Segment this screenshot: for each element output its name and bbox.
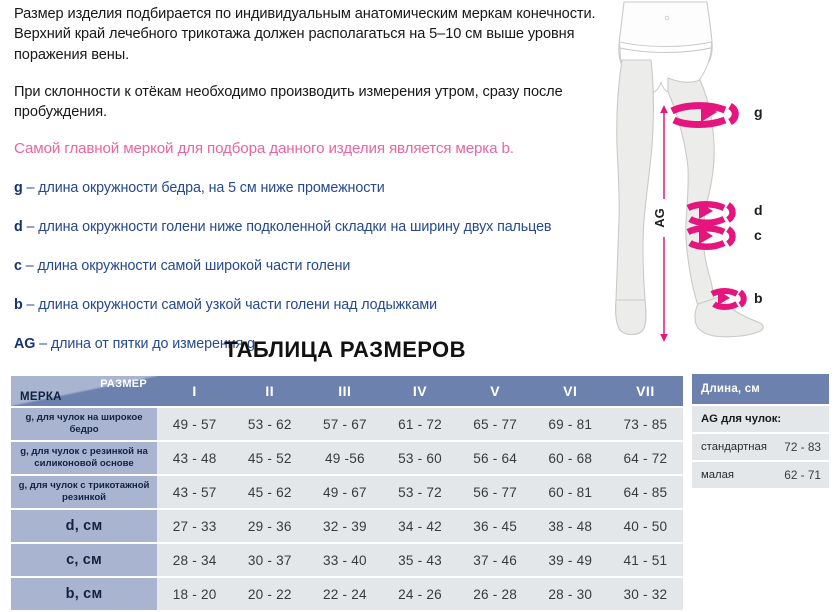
length-panel: Длина, см AG для чулок: стандартная 72 -…	[692, 374, 829, 574]
ag-label: AG	[652, 208, 667, 228]
length-row-value: 62 - 71	[784, 462, 821, 488]
column-header-1: I	[157, 376, 232, 406]
definition-dash-c: –	[26, 258, 34, 274]
cell-value: 53 - 72	[382, 476, 457, 508]
cell-value: 43 - 48	[157, 442, 232, 474]
table-row: g, для чулок с резинкой на силиконовой о…	[11, 442, 683, 474]
measurement-definitions: g – длина окружности бедра, на 5 см ниже…	[14, 179, 614, 353]
length-panel-header: Длина, см	[692, 374, 829, 404]
cell-value: 41 - 51	[608, 544, 683, 576]
cell-value: 49 -56	[307, 442, 382, 474]
cell-value: 45 - 52	[232, 442, 307, 474]
length-panel-row: стандартная 72 - 83	[692, 434, 829, 460]
size-table: РАЗМЕР МЕРКА I II III IV V VI VII g, для…	[11, 374, 683, 612]
cell-value: 43 - 57	[157, 476, 232, 508]
cell-value: 61 - 72	[382, 408, 457, 440]
row-label: d, см	[11, 510, 157, 542]
cell-value: 65 - 77	[458, 408, 533, 440]
definition-c: c – длина окружности самой широкой части…	[14, 257, 614, 275]
diagram-label-c: c	[754, 227, 762, 243]
page-title: ТАБЛИЦА РАЗМЕРОВ	[0, 337, 690, 363]
definition-g: g – длина окружности бедра, на 5 см ниже…	[14, 179, 614, 197]
highlight-note: Самой главной меркой для подбора данного…	[14, 139, 614, 159]
definition-dash-d: –	[27, 219, 35, 235]
definition-text-c: длина окружности самой широкой части гол…	[37, 258, 350, 274]
cell-value: 29 - 36	[232, 510, 307, 542]
length-panel-title-row: AG для чулок:	[692, 406, 829, 432]
cell-value: 24 - 26	[382, 578, 457, 610]
cell-value: 33 - 40	[307, 544, 382, 576]
female-body-silhouette	[616, 2, 764, 337]
length-panel-spacer	[692, 490, 829, 516]
cell-value: 35 - 43	[382, 544, 457, 576]
text-column: Размер изделия подбирается по индивидуал…	[14, 4, 614, 374]
diagram-label-b: b	[754, 290, 763, 306]
cell-value: 28 - 30	[533, 578, 608, 610]
definition-dash-b: –	[27, 297, 35, 313]
cell-value: 38 - 48	[533, 510, 608, 542]
info-section: Размер изделия подбирается по индивидуал…	[0, 0, 836, 336]
length-row-name: стандартная	[701, 434, 767, 460]
table-row: g, для чулок на широкое бедро 49 - 57 53…	[11, 408, 683, 440]
table-corner-header: РАЗМЕР МЕРКА	[11, 376, 157, 406]
column-header-4: IV	[382, 376, 457, 406]
cell-value: 64 - 85	[608, 476, 683, 508]
definition-text-b: длина окружности самой узкой части голен…	[38, 297, 437, 313]
definition-d: d – длина окружности голени ниже подколе…	[14, 218, 614, 236]
cell-value: 36 - 45	[458, 510, 533, 542]
intro-paragraph-1: Размер изделия подбирается по индивидуал…	[14, 4, 614, 65]
table-row: c, см 28 - 34 30 - 37 33 - 40 35 - 43 37…	[11, 544, 683, 576]
table-row: d, см 27 - 33 29 - 36 32 - 39 34 - 42 36…	[11, 510, 683, 542]
diagram-label-d: d	[754, 202, 763, 218]
length-row-value: 72 - 83	[784, 434, 821, 460]
definition-key-c: c	[14, 258, 22, 274]
cell-value: 30 - 32	[608, 578, 683, 610]
column-header-6: VI	[533, 376, 608, 406]
table-row: g, для чулок с трикотажной резинкой 43 -…	[11, 476, 683, 508]
length-panel-row: малая 62 - 71	[692, 462, 829, 488]
cell-value: 18 - 20	[157, 578, 232, 610]
cell-value: 49 - 57	[157, 408, 232, 440]
cell-value: 53 - 60	[382, 442, 457, 474]
definition-b: b – длина окружности самой узкой части г…	[14, 296, 614, 314]
row-label: g, для чулок на широкое бедро	[11, 408, 157, 440]
cell-value: 28 - 34	[157, 544, 232, 576]
cell-value: 56 - 64	[458, 442, 533, 474]
cell-value: 20 - 22	[232, 578, 307, 610]
cell-value: 30 - 37	[232, 544, 307, 576]
definition-dash-g: –	[27, 180, 35, 196]
length-panel-spacer	[692, 546, 829, 572]
definition-text-g: длина окружности бедра, на 5 см ниже про…	[38, 180, 384, 196]
leg-measurement-diagram: AG	[606, 0, 836, 345]
cell-value: 53 - 62	[232, 408, 307, 440]
cell-value: 60 - 68	[533, 442, 608, 474]
length-row-name: малая	[701, 462, 734, 488]
cell-value: 39 - 49	[533, 544, 608, 576]
cell-value: 40 - 50	[608, 510, 683, 542]
length-panel-spacer	[692, 518, 829, 544]
cell-value: 73 - 85	[608, 408, 683, 440]
column-header-5: V	[458, 376, 533, 406]
table-row: b, см 18 - 20 20 - 22 22 - 24 24 - 26 26…	[11, 578, 683, 610]
row-label: b, см	[11, 578, 157, 610]
cell-value: 69 - 81	[533, 408, 608, 440]
cell-value: 45 - 62	[232, 476, 307, 508]
cell-value: 56 - 77	[458, 476, 533, 508]
column-header-7: VII	[608, 376, 683, 406]
cell-value: 34 - 42	[382, 510, 457, 542]
cell-value: 26 - 28	[458, 578, 533, 610]
definition-key-g: g	[14, 180, 23, 196]
row-label: g, для чулок с резинкой на силиконовой о…	[11, 442, 157, 474]
cell-value: 49 - 67	[307, 476, 382, 508]
ag-dimension-arrow: AG	[652, 105, 675, 342]
size-table-area: РАЗМЕР МЕРКА I II III IV V VI VII g, для…	[11, 374, 829, 566]
cell-value: 27 - 33	[157, 510, 232, 542]
row-label: c, см	[11, 544, 157, 576]
diagram-label-g: g	[754, 104, 763, 120]
definition-key-b: b	[14, 297, 23, 313]
corner-size-label: РАЗМЕР	[100, 378, 147, 390]
definition-key-d: d	[14, 219, 23, 235]
cell-value: 57 - 67	[307, 408, 382, 440]
column-header-3: III	[307, 376, 382, 406]
cell-value: 32 - 39	[307, 510, 382, 542]
cell-value: 22 - 24	[307, 578, 382, 610]
cell-value: 64 - 72	[608, 442, 683, 474]
cell-value: 60 - 81	[533, 476, 608, 508]
corner-measure-label: МЕРКА	[20, 391, 62, 403]
intro-paragraph-2: При склонности к отёкам необходимо произ…	[14, 82, 614, 123]
cell-value: 37 - 46	[458, 544, 533, 576]
column-header-2: II	[232, 376, 307, 406]
row-label: g, для чулок с трикотажной резинкой	[11, 476, 157, 508]
definition-text-d: длина окружности голени ниже подколенной…	[38, 219, 551, 235]
table-header-row: РАЗМЕР МЕРКА I II III IV V VI VII	[11, 376, 683, 406]
